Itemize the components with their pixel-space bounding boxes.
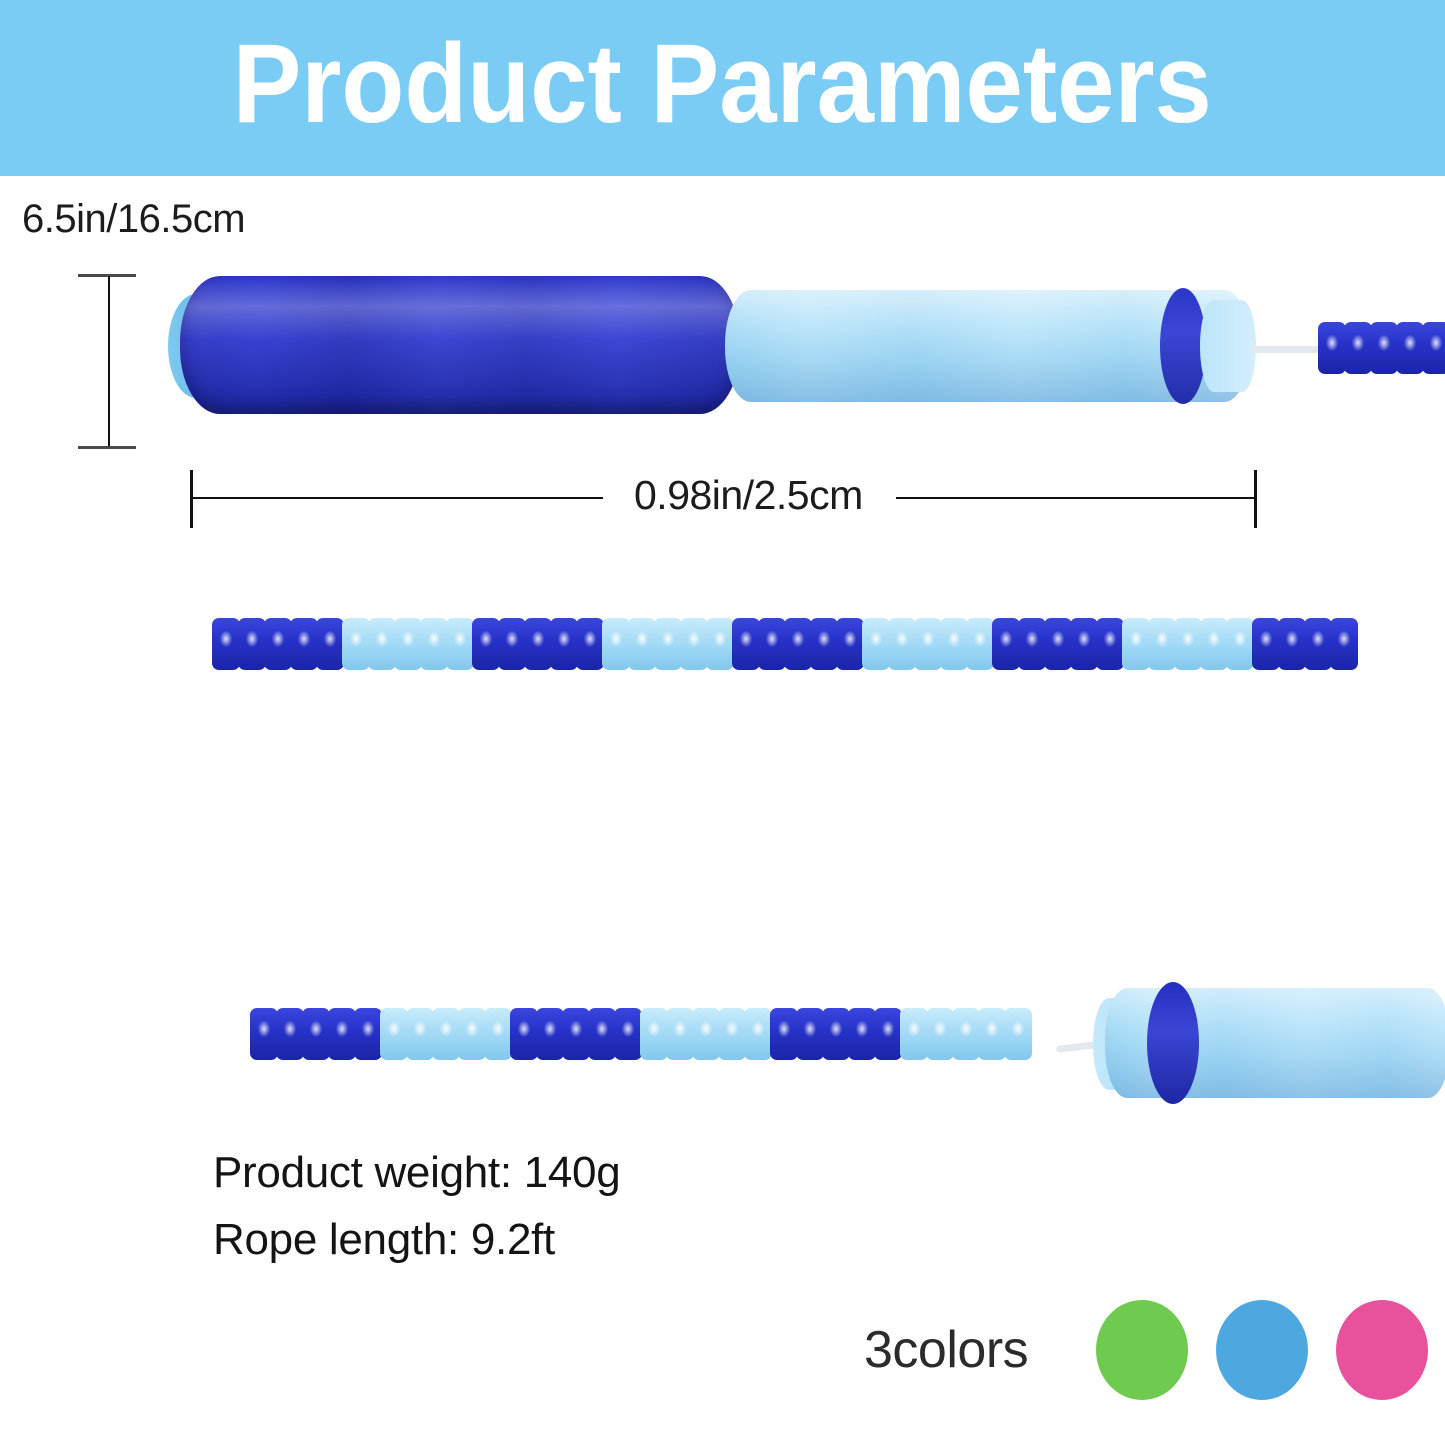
handle-tip	[1200, 300, 1256, 392]
rope-bead	[1174, 618, 1202, 670]
spec-rope-length: Rope length: 9.2ft	[213, 1215, 555, 1265]
spec-product-weight: Product weight: 140g	[213, 1148, 620, 1198]
rope-bead	[602, 618, 630, 670]
rope-bead	[550, 618, 578, 670]
rope-bead	[680, 618, 708, 670]
rope-bead	[290, 618, 318, 670]
page-title: Product Parameters	[233, 28, 1212, 148]
jump-rope-handle-bottom	[1105, 978, 1445, 1108]
rope-bead	[276, 1008, 304, 1060]
rope-bead	[406, 1008, 434, 1060]
rope-bead	[1252, 618, 1280, 670]
rope-bead	[1318, 322, 1346, 374]
color-swatch-green	[1096, 1300, 1188, 1400]
rope-bead	[666, 1008, 694, 1060]
rope-bead	[614, 1008, 642, 1060]
rope-bead	[926, 1008, 954, 1060]
rope-bead	[900, 1008, 928, 1060]
rope-bead	[1278, 618, 1306, 670]
header-banner: Product Parameters	[0, 0, 1445, 176]
rope-bead	[536, 1008, 564, 1060]
handle-grip	[180, 276, 740, 414]
rope-bead	[264, 618, 292, 670]
rope-bead	[484, 1008, 512, 1060]
rope-bead	[1070, 618, 1098, 670]
rope-bead	[446, 618, 474, 670]
color-swatch-pink	[1336, 1300, 1428, 1400]
rope-bead	[628, 618, 656, 670]
rope-cord-top	[1252, 346, 1322, 353]
rope-bead	[1200, 618, 1228, 670]
width-rule-line-right	[896, 497, 1256, 499]
rope-bead	[978, 1008, 1006, 1060]
rope-bead	[1304, 618, 1332, 670]
height-rule-cap-bottom	[78, 446, 136, 449]
width-rule-tick-left	[190, 470, 193, 528]
rope-bead	[784, 618, 812, 670]
rope-bead	[1044, 618, 1072, 670]
rope-bead	[940, 618, 968, 670]
rope-bead	[1344, 322, 1372, 374]
rope-bead	[1122, 618, 1150, 670]
rope-bead	[706, 618, 734, 670]
rope-bead	[848, 1008, 876, 1060]
rope-bead	[302, 1008, 330, 1060]
handle-ring-bottom	[1147, 982, 1199, 1104]
rope-bead	[510, 1008, 538, 1060]
rope-bead	[420, 618, 448, 670]
rope-bead	[238, 618, 266, 670]
product-parameters-infographic: Product Parameters 6.5in/16.5cm 0.98in/2…	[0, 0, 1445, 1445]
rope-bead	[1422, 322, 1445, 374]
rope-bead	[576, 618, 604, 670]
rope-bead	[328, 1008, 356, 1060]
rope-bead	[380, 1008, 408, 1060]
rope-bead	[1330, 618, 1358, 670]
rope-bead	[1370, 322, 1398, 374]
width-rule-tick-right	[1254, 470, 1257, 528]
handle-height-label: 6.5in/16.5cm	[22, 197, 245, 242]
rope-bead	[562, 1008, 590, 1060]
rope-bead	[810, 618, 838, 670]
rope-bead	[718, 1008, 746, 1060]
colors-count-label: 3colors	[864, 1320, 1028, 1380]
rope-bead	[770, 1008, 798, 1060]
rope-bead	[862, 618, 890, 670]
rope-bead	[1018, 618, 1046, 670]
rope-bead	[888, 618, 916, 670]
rope-bead	[836, 618, 864, 670]
rope-bead	[458, 1008, 486, 1060]
rope-bead	[498, 618, 526, 670]
color-swatch-row	[1096, 1300, 1428, 1400]
rope-bead	[744, 1008, 772, 1060]
rope-bead	[966, 618, 994, 670]
rope-bead	[432, 1008, 460, 1060]
rope-bead	[1226, 618, 1254, 670]
rope-bead	[1148, 618, 1176, 670]
rope-bead	[874, 1008, 902, 1060]
rope-bead	[354, 1008, 382, 1060]
height-rule-line	[108, 276, 110, 448]
jump-rope-handle-top	[180, 268, 1260, 420]
rope-bead	[992, 618, 1020, 670]
rope-bead	[758, 618, 786, 670]
rope-bead	[394, 618, 422, 670]
rope-bead	[952, 1008, 980, 1060]
rope-bead	[212, 618, 240, 670]
rope-bead	[316, 618, 344, 670]
color-swatch-blue	[1216, 1300, 1308, 1400]
rope-bead	[654, 618, 682, 670]
rope-bead	[524, 618, 552, 670]
rope-bead	[732, 618, 760, 670]
rope-bead	[692, 1008, 720, 1060]
rope-bead	[822, 1008, 850, 1060]
rope-bead	[472, 618, 500, 670]
width-rule-line-left	[191, 497, 603, 499]
rope-bead	[640, 1008, 668, 1060]
handle-width-label: 0.98in/2.5cm	[634, 472, 863, 519]
rope-bead	[796, 1008, 824, 1060]
rope-bead	[588, 1008, 616, 1060]
height-rule-cap-top	[78, 274, 136, 277]
rope-bead	[1396, 322, 1424, 374]
rope-bead	[342, 618, 370, 670]
rope-bead	[250, 1008, 278, 1060]
rope-bead	[914, 618, 942, 670]
rope-bead	[1096, 618, 1124, 670]
rope-bead	[1004, 1008, 1032, 1060]
rope-bead	[368, 618, 396, 670]
